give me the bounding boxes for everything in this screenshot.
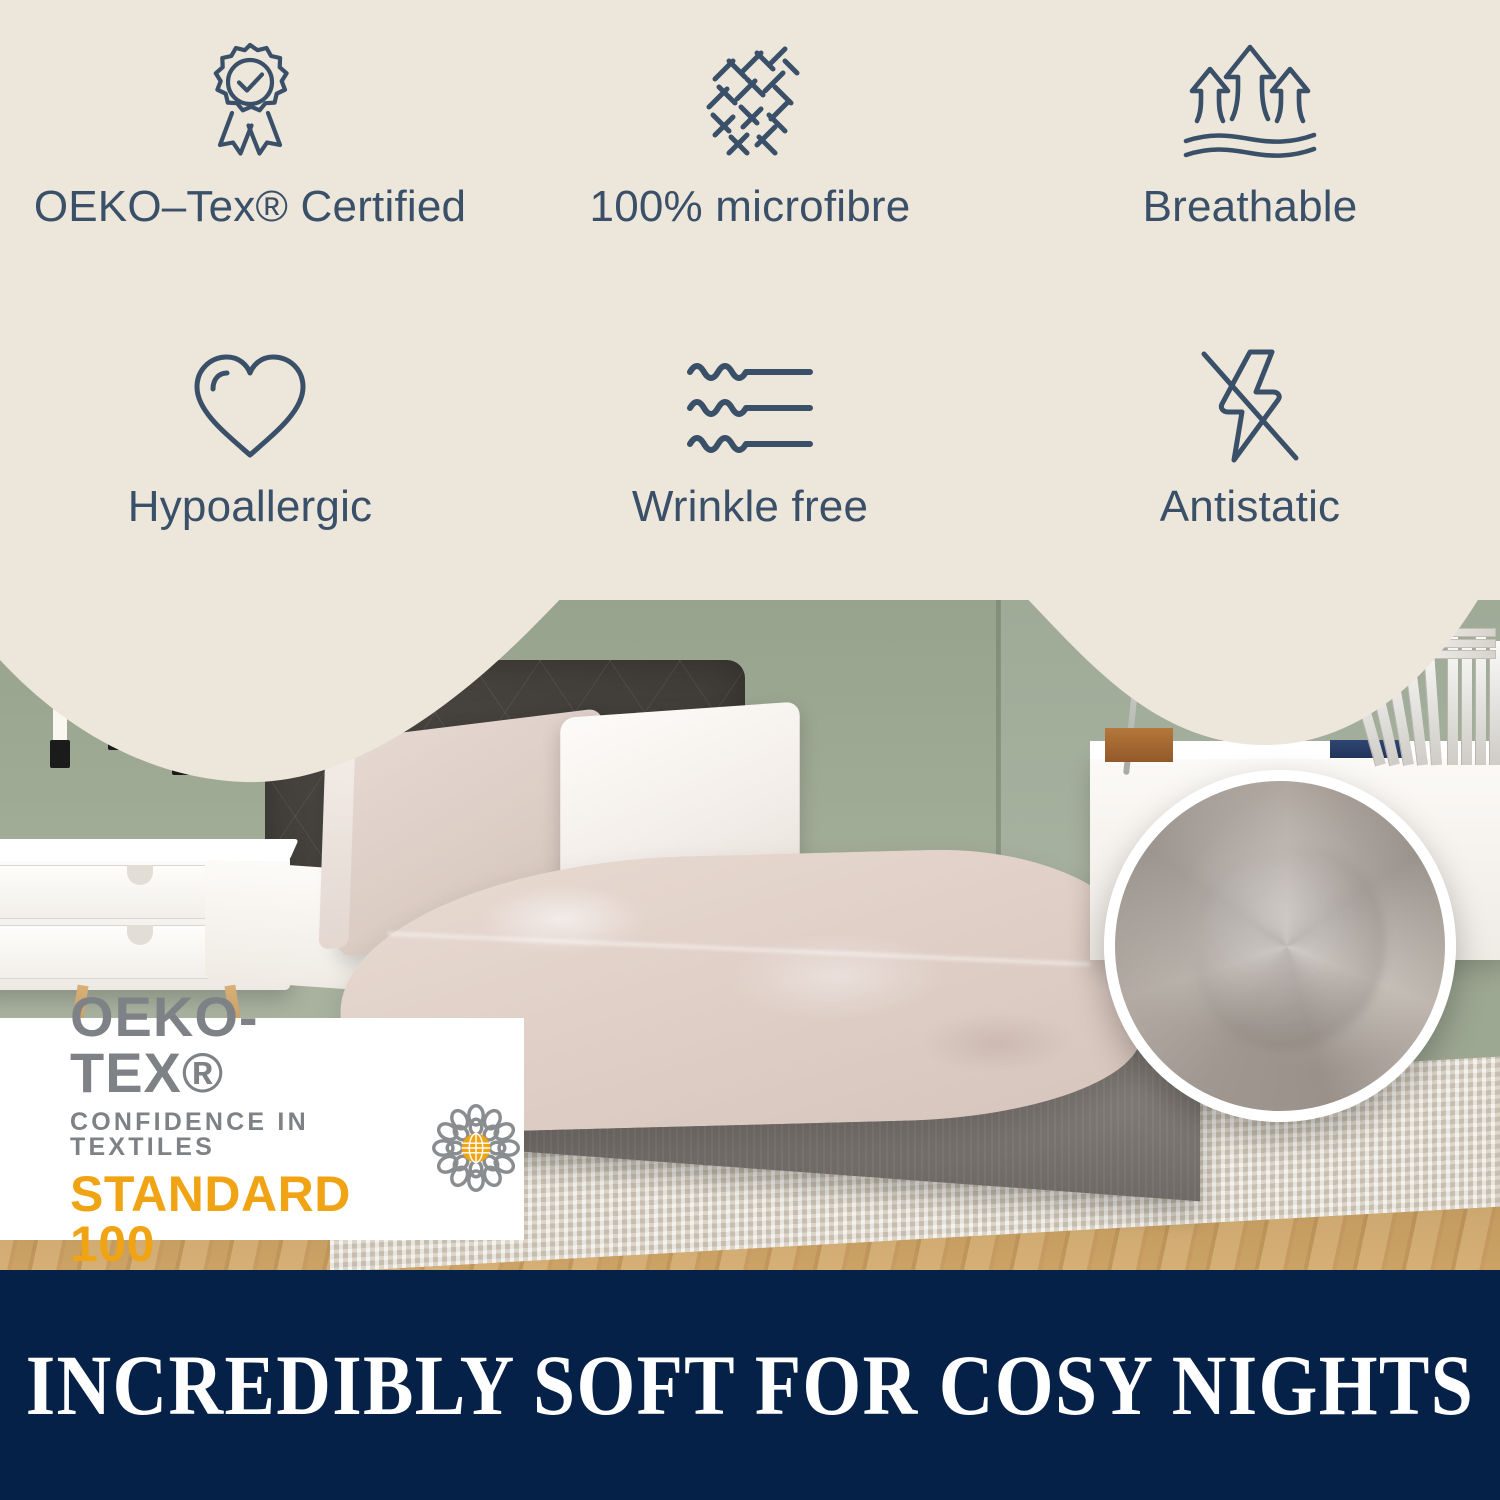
badge-standard: STANDARD 100 xyxy=(70,1169,410,1269)
feature-label: Wrinkle free xyxy=(632,482,868,532)
candle-holder xyxy=(108,722,128,750)
badge-subtitle: CONFIDENCE IN TEXTILES xyxy=(70,1110,410,1160)
heart-icon xyxy=(185,346,315,466)
product-feature-image: OEKO–Tex® Certified xyxy=(0,0,1500,1500)
feature-microfibre: 100% microfibre xyxy=(500,0,1000,330)
feature-grid: OEKO–Tex® Certified xyxy=(0,0,1500,600)
candle-holder xyxy=(50,740,70,768)
candle-wax xyxy=(175,683,189,749)
banner-headline: INCREDIBLY SOFT FOR COSY NIGHTS xyxy=(26,1335,1474,1435)
woven-fabric-icon xyxy=(685,36,815,166)
certificate-ribbon-icon xyxy=(191,36,309,166)
feature-wrinkle-free: Wrinkle free xyxy=(500,330,1000,580)
air-flow-arrows-icon xyxy=(1176,36,1324,166)
candle-wax xyxy=(111,634,125,724)
oeko-tex-globe-logo xyxy=(428,1100,524,1201)
feature-antistatic: Antistatic xyxy=(1000,330,1500,580)
feature-hypoallergenic: Hypoallergic xyxy=(0,330,500,580)
fabric-closeup-circle xyxy=(1104,770,1456,1122)
feature-label: Hypoallergic xyxy=(128,482,373,532)
nightstand-top xyxy=(0,839,299,861)
feature-label: OEKO–Tex® Certified xyxy=(34,182,466,232)
wavy-to-straight-lines-icon xyxy=(684,346,816,466)
bottom-banner: INCREDIBLY SOFT FOR COSY NIGHTS xyxy=(0,1270,1500,1500)
feature-oeko-tex-certified: OEKO–Tex® Certified xyxy=(0,0,500,330)
feature-label: Breathable xyxy=(1143,182,1358,232)
feature-label: 100% microfibre xyxy=(590,182,911,232)
stacked-books xyxy=(1400,628,1496,662)
wooden-box xyxy=(1105,728,1173,762)
feature-breathable: Breathable xyxy=(1000,0,1500,330)
candle-wax xyxy=(53,670,67,742)
badge-title: OEKO-TEX® xyxy=(70,989,410,1101)
feature-label: Antistatic xyxy=(1160,482,1341,532)
badge-text-block: OEKO-TEX® CONFIDENCE IN TEXTILES STANDAR… xyxy=(70,989,410,1269)
oeko-tex-certification-badge: OEKO-TEX® CONFIDENCE IN TEXTILES STANDAR… xyxy=(0,1018,524,1240)
crossed-out-lightning-bolt-icon xyxy=(1192,346,1308,466)
candle-holder xyxy=(172,747,192,775)
